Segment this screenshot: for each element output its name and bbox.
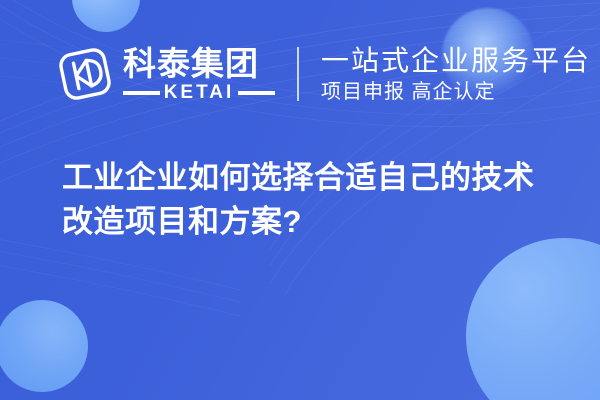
promo-banner: 科泰集团 KETAI 一站式企业服务平台 项目申报 高企认定 工业企业如何选择合… <box>0 0 600 400</box>
brand-lockup: 科泰集团 KETAI <box>56 45 275 103</box>
brand-wordmark: 科泰集团 KETAI <box>123 46 275 103</box>
header-divider <box>297 47 299 101</box>
decorative-circle-bottom-right <box>466 238 600 400</box>
headline-line-2: 改造项目和方案? <box>62 200 562 244</box>
decorative-circle-top-left <box>72 0 140 32</box>
headline-line-1: 工业企业如何选择合适自己的技术 <box>62 156 562 200</box>
banner-header: 科泰集团 KETAI 一站式企业服务平台 项目申报 高企认定 <box>0 36 600 112</box>
headline: 工业企业如何选择合适自己的技术 改造项目和方案? <box>62 156 562 244</box>
brand-name-en-row: KETAI <box>123 83 275 103</box>
ketai-diamond-kd-logo-icon <box>56 45 114 103</box>
brand-rule-right <box>238 91 275 95</box>
tagline-block: 一站式企业服务平台 项目申报 高企认定 <box>321 45 591 104</box>
brand-rule-left <box>123 91 160 95</box>
brand-name-cn: 科泰集团 <box>123 46 275 81</box>
decorative-circle-bottom-left <box>0 300 88 392</box>
tagline-sub: 项目申报 高企认定 <box>321 81 591 104</box>
tagline-main: 一站式企业服务平台 <box>321 45 591 77</box>
brand-name-en: KETAI <box>160 83 239 103</box>
